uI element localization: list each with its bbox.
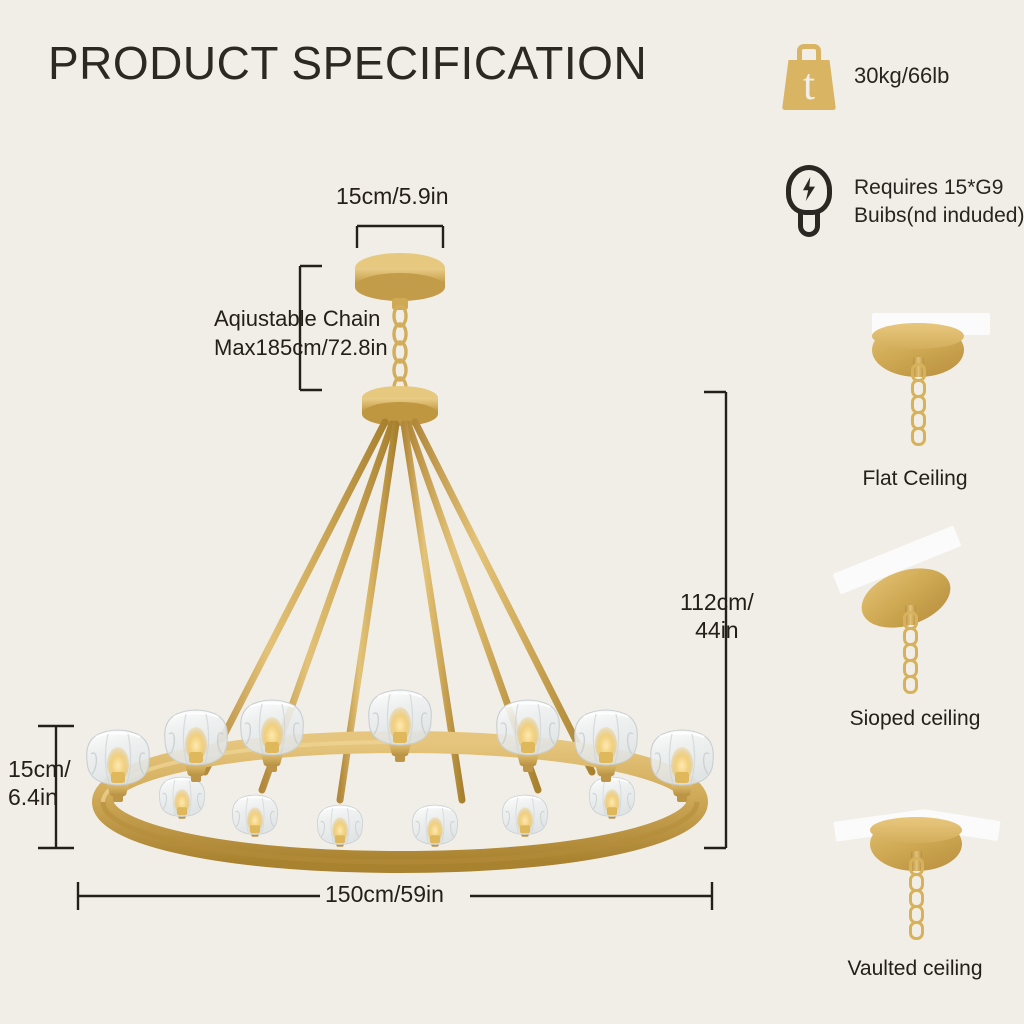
dim-label-ring-height: 15cm/ 6.4in — [8, 755, 71, 811]
bulb-text-line2: Buibs(nd induded) — [854, 202, 1024, 230]
vaulted-ceiling-icon — [810, 795, 1020, 953]
mount-option-sloped-ceiling: Sioped ceiling — [810, 545, 1020, 731]
bulb-base — [798, 211, 820, 237]
chain-link — [909, 921, 924, 940]
flat-ceiling-icon — [810, 305, 1020, 463]
dim-label-chain-line1: Aqiustable Chain — [214, 305, 388, 334]
weight-spec: t 30kg/66lb — [778, 40, 949, 112]
bulb-icon — [778, 163, 840, 241]
dim-label-canopy-width: 15cm/5.9in — [336, 182, 449, 210]
dim-label-chain: Aqiustable Chain Max185cm/72.8in — [214, 305, 388, 362]
dim-label-total-height-line2: 44in — [680, 616, 754, 644]
dim-label-total-height-line1: 112cm/ — [680, 588, 754, 616]
canopy-top — [872, 323, 964, 349]
mount-label: Sioped ceiling — [810, 707, 1020, 731]
bulb-text: Requires 15*G9 Buibs(nd induded) — [854, 174, 1024, 229]
dim-canopy-width — [357, 226, 443, 248]
dim-label-total-width: 150cm/59in — [325, 880, 444, 908]
weight-glyph: t — [778, 62, 840, 110]
weight-value: 30kg/66lb — [854, 61, 949, 90]
bulb-spec: Requires 15*G9 Buibs(nd induded) — [778, 163, 1024, 241]
mount-chain — [903, 611, 919, 691]
chain-link — [903, 675, 918, 694]
chain-link — [911, 427, 926, 446]
sloped-ceiling-icon — [810, 545, 1020, 703]
mount-option-flat-ceiling: Flat Ceiling — [810, 305, 1020, 491]
mount-label: Vaulted ceiling — [810, 957, 1020, 981]
mount-chain — [909, 857, 925, 937]
dim-label-ring-height-line1: 15cm/ — [8, 755, 71, 783]
dim-label-chain-line2: Max185cm/72.8in — [214, 334, 388, 363]
bulb-text-line1: Requires 15*G9 — [854, 174, 1024, 202]
dim-label-total-height: 112cm/ 44in — [680, 588, 754, 644]
canopy-top — [870, 817, 962, 843]
weight-icon: t — [778, 40, 840, 112]
mount-label: Flat Ceiling — [810, 467, 1020, 491]
mount-option-vaulted-ceiling: Vaulted ceiling — [810, 795, 1020, 981]
dim-label-ring-height-line2: 6.4in — [8, 783, 71, 811]
mount-chain — [911, 363, 927, 443]
